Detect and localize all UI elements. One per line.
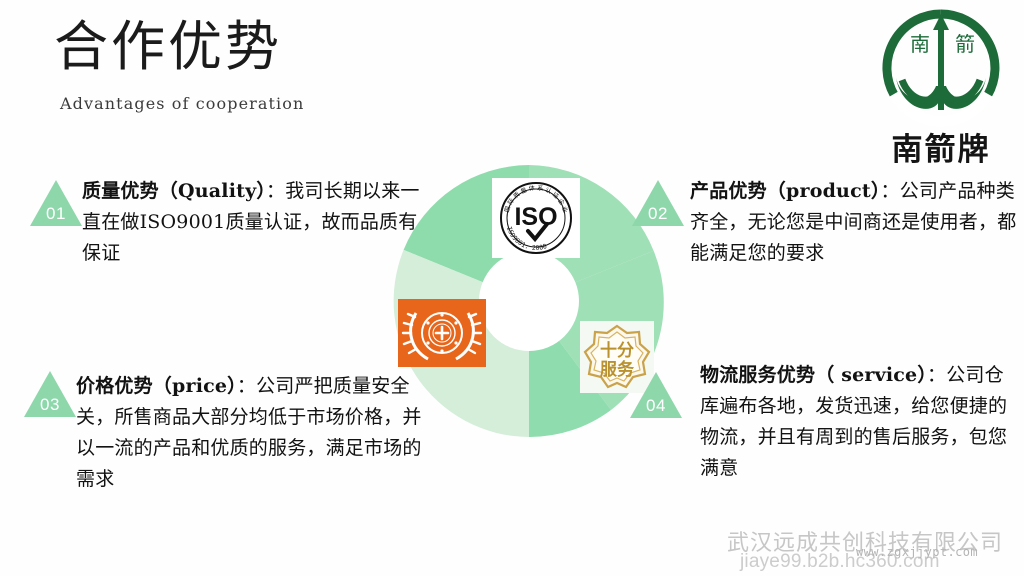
advantage-item-03: 03 价格优势（price）：公司严把质量安全关，所售商品大部分均低于市场价格，…: [24, 371, 434, 495]
item-02-lead: 产品优势（product）: [690, 180, 881, 202]
item-02-text: 产品优势（product）：公司产品种类齐全，无论您是中间商还是使用者，都能满足…: [690, 176, 1020, 269]
item-03-separator: ：: [237, 375, 256, 397]
item-04-lead: 物流服务优势（ service）: [700, 364, 927, 386]
title-block: 合作优势 Advantages of cooperation: [54, 16, 484, 113]
item-01-text: 质量优势（Quality）：我司长期以来一直在做ISO9001质量认证，故而品质…: [82, 176, 432, 269]
item-02-separator: ：: [881, 180, 900, 202]
emblem-char-left: 南: [910, 32, 930, 56]
item-01-separator: ：: [266, 180, 285, 202]
brand-logo: 南 箭 南箭牌: [876, 6, 1006, 168]
item-04-number: 04: [630, 396, 682, 416]
item-02-number: 02: [632, 204, 684, 224]
item-03-text: 价格优势（price）：公司严把质量安全关，所售商品大部分均低于市场价格，并以一…: [76, 371, 426, 495]
item-01-lead: 质量优势（Quality）: [82, 180, 266, 202]
item-03-number: 03: [24, 395, 76, 415]
advantage-item-04: 04 物流服务优势（ service）：公司仓库遍布各地，发货迅速，给您便捷的物…: [630, 360, 1024, 484]
page-subtitle: Advantages of cooperation: [60, 94, 484, 113]
logo-wordmark: 南箭牌: [876, 132, 1006, 168]
watermark-platform: jiaye99.b2b.hc360.com: [740, 551, 940, 573]
item-04-text: 物流服务优势（ service）：公司仓库遍布各地，发货迅速，给您便捷的物流，并…: [700, 360, 1020, 484]
advantage-item-01: 01 质量优势（Quality）：我司长期以来一直在做ISO9001质量认证，故…: [30, 176, 430, 269]
page-title: 合作优势: [54, 16, 484, 78]
service-badge-line1: 十分: [600, 340, 634, 361]
iso-certification-badge: ISO 国 际 质 量 体 系 认 证 企 业 ISO9001: 2000: [492, 178, 580, 258]
item-03-lead: 价格优势（price）: [76, 375, 237, 397]
award-seal-badge: [398, 299, 486, 367]
watermark-company: 武汉远成共创科技有限公司: [727, 525, 1003, 557]
nanjian-emblem-icon: 南 箭: [876, 6, 1006, 130]
donut-hole: [479, 251, 579, 351]
emblem-char-right: 箭: [955, 32, 975, 56]
iso-badge-center-text: ISO: [514, 203, 557, 231]
item-01-number: 01: [30, 204, 82, 224]
watermark-site: www.zgxjjypt.com: [856, 545, 978, 559]
item-04-separator: ：: [927, 364, 946, 386]
advantage-item-02: 02 产品优势（product）：公司产品种类齐全，无论您是中间商还是使用者，都…: [632, 176, 1024, 269]
slide-canvas: 合作优势 Advantages of cooperation 南 箭 南箭牌: [0, 0, 1024, 576]
